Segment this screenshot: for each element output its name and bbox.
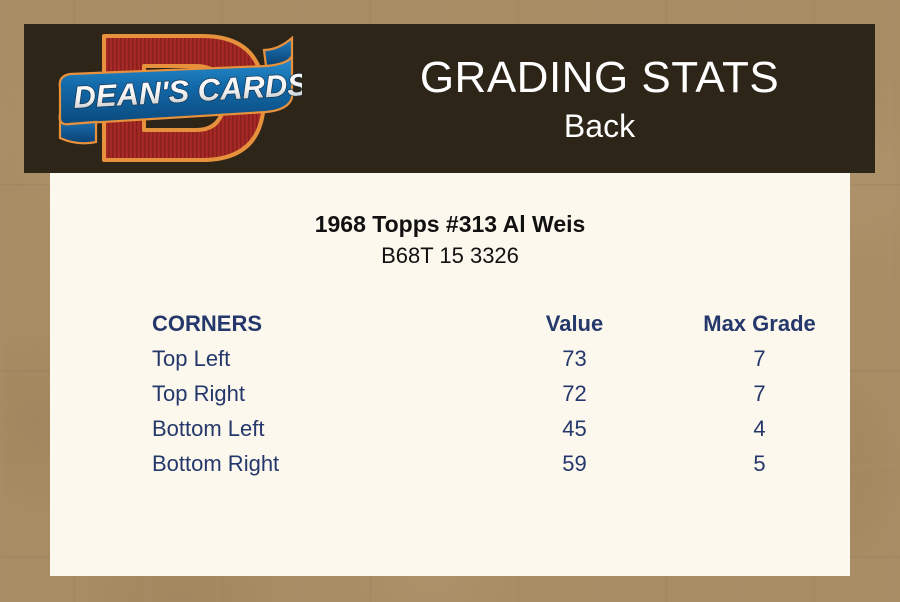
table-header-row: CORNERS Value Max Grade [152,306,852,341]
row-label: Bottom Right [152,446,482,481]
row-max-grade: 4 [667,411,852,446]
deans-cards-logo-graphic: DEAN'S CARDS [52,26,302,171]
table-body: Top Left 73 7 Top Right 72 7 Bottom Left… [152,341,852,481]
table-row: Top Left 73 7 [152,341,852,376]
grading-stats-table: CORNERS Value Max Grade Top Left 73 7 To… [152,306,852,481]
table-row: Bottom Left 45 4 [152,411,852,446]
column-header-value: Value [482,306,667,341]
row-value: 73 [482,341,667,376]
row-label: Top Left [152,341,482,376]
table-header: CORNERS Value Max Grade [152,306,852,341]
deans-cards-logo[interactable]: DEAN'S CARDS [52,26,302,171]
row-label: Bottom Left [152,411,482,446]
column-header-max-grade: Max Grade [667,306,852,341]
header-bar: DEAN'S CARDS GRADING STATS Back [24,24,875,173]
column-header-corners: CORNERS [152,306,482,341]
row-label: Top Right [152,376,482,411]
card-title: 1968 Topps #313 Al Weis [50,210,850,238]
row-max-grade: 5 [667,446,852,481]
row-value: 72 [482,376,667,411]
row-max-grade: 7 [667,341,852,376]
table-row: Top Right 72 7 [152,376,852,411]
row-max-grade: 7 [667,376,852,411]
row-value: 45 [482,411,667,446]
content-panel: 1968 Topps #313 Al Weis B68T 15 3326 COR… [50,173,850,576]
page-subtitle: Back [564,106,635,146]
card-subtitle: B68T 15 3326 [50,242,850,270]
row-value: 59 [482,446,667,481]
table-row: Bottom Right 59 5 [152,446,852,481]
header-title-group: GRADING STATS Back [324,24,875,173]
page-title: GRADING STATS [420,52,779,104]
